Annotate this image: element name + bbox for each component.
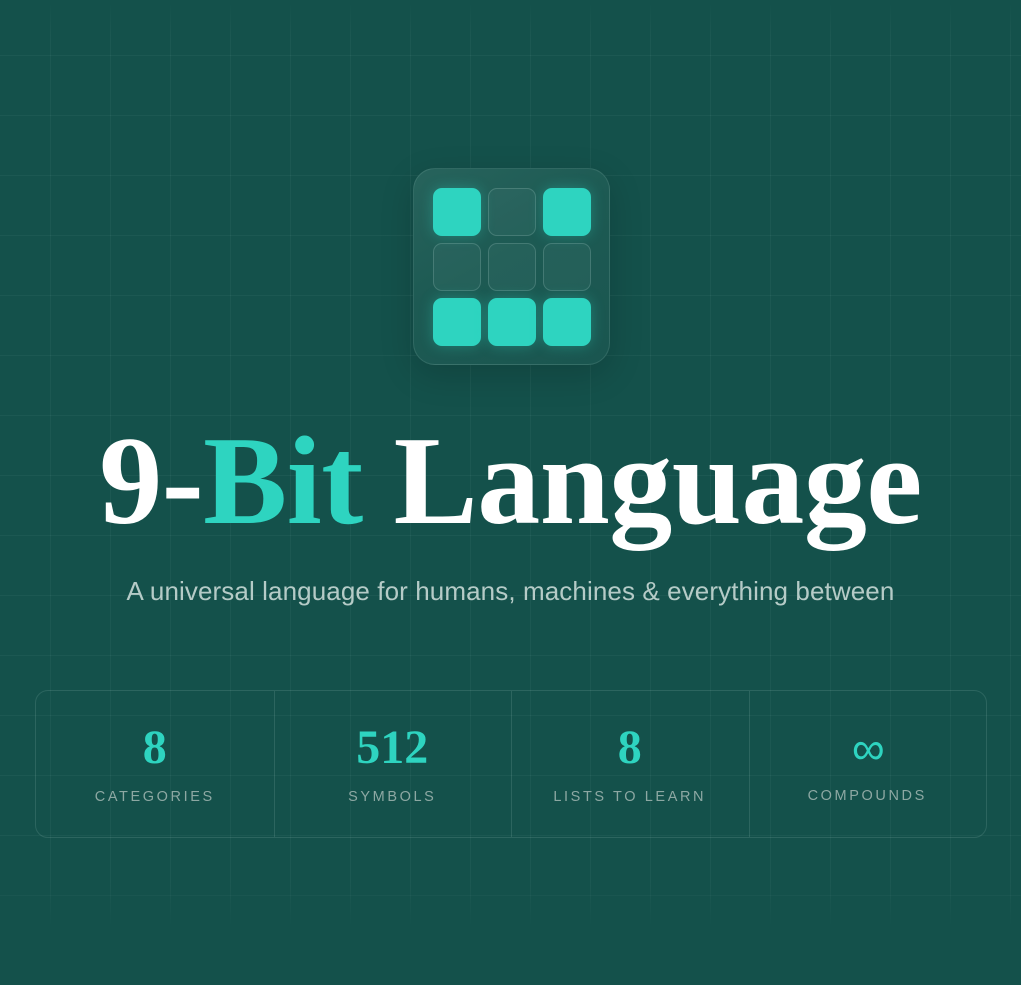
title-suffix: Language [363,412,922,551]
logo-cell-8 [543,298,591,346]
logo-grid [433,188,591,346]
logo-cell-3 [433,243,481,291]
logo-cell-6 [433,298,481,346]
infinity-icon: ∞ [852,725,883,771]
stat-categories-value: 8 [143,724,167,772]
stat-categories: 8 Categories [36,691,274,837]
stat-symbols: 512 Symbols [274,691,512,837]
page-title: 9-Bit Language [0,419,1021,545]
stat-symbols-label: Symbols [348,789,436,805]
stat-lists-to-learn-value: 8 [618,724,642,772]
logo-cell-5 [543,243,591,291]
stat-categories-label: Categories [95,789,215,805]
stat-compounds-label: Compounds [808,788,927,804]
stats-bar: 8 Categories 512 Symbols 8 Lists to Lear… [35,690,987,838]
stat-lists-to-learn-label: Lists to Learn [553,789,706,805]
logo-cell-1 [488,188,536,236]
stat-symbols-value: 512 [356,724,428,772]
logo-cell-0 [433,188,481,236]
stat-compounds: ∞ Compounds [749,691,987,837]
page-subtitle: A universal language for humans, machine… [0,576,1021,607]
title-prefix: 9- [99,412,203,551]
logo-cell-4 [488,243,536,291]
title-accent: Bit [203,412,363,551]
stat-lists-to-learn: 8 Lists to Learn [511,691,749,837]
logo-cell-2 [543,188,591,236]
hero-page: 9-Bit Language A universal language for … [0,0,1021,985]
app-logo [413,168,610,365]
logo-cell-7 [488,298,536,346]
